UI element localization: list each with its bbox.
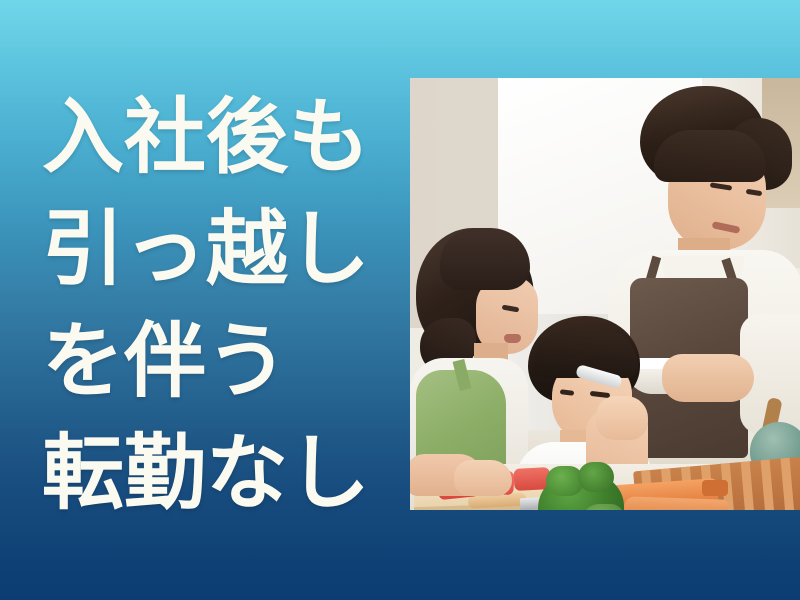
- recruitment-banner: 入社後も 引っ越し を伴う 転勤なし: [0, 0, 800, 600]
- headline-line-2: 引っ越し: [42, 194, 392, 306]
- mother-mouth: [504, 334, 521, 343]
- carrot-top: [702, 480, 728, 496]
- headline-line-3: を伴う: [42, 306, 392, 418]
- father-fringe: [654, 130, 766, 182]
- father-hand: [662, 354, 754, 402]
- family-cooking-photo: [410, 78, 800, 510]
- child-hand: [596, 396, 648, 440]
- mother-fringe: [440, 228, 530, 290]
- headline-line-1: 入社後も: [42, 82, 392, 194]
- headline-line-4: 転勤なし: [42, 418, 392, 530]
- mother-hand: [454, 460, 512, 496]
- broccoli-floret-2: [578, 462, 614, 492]
- headline-block: 入社後も 引っ越し を伴う 転勤なし: [42, 82, 392, 530]
